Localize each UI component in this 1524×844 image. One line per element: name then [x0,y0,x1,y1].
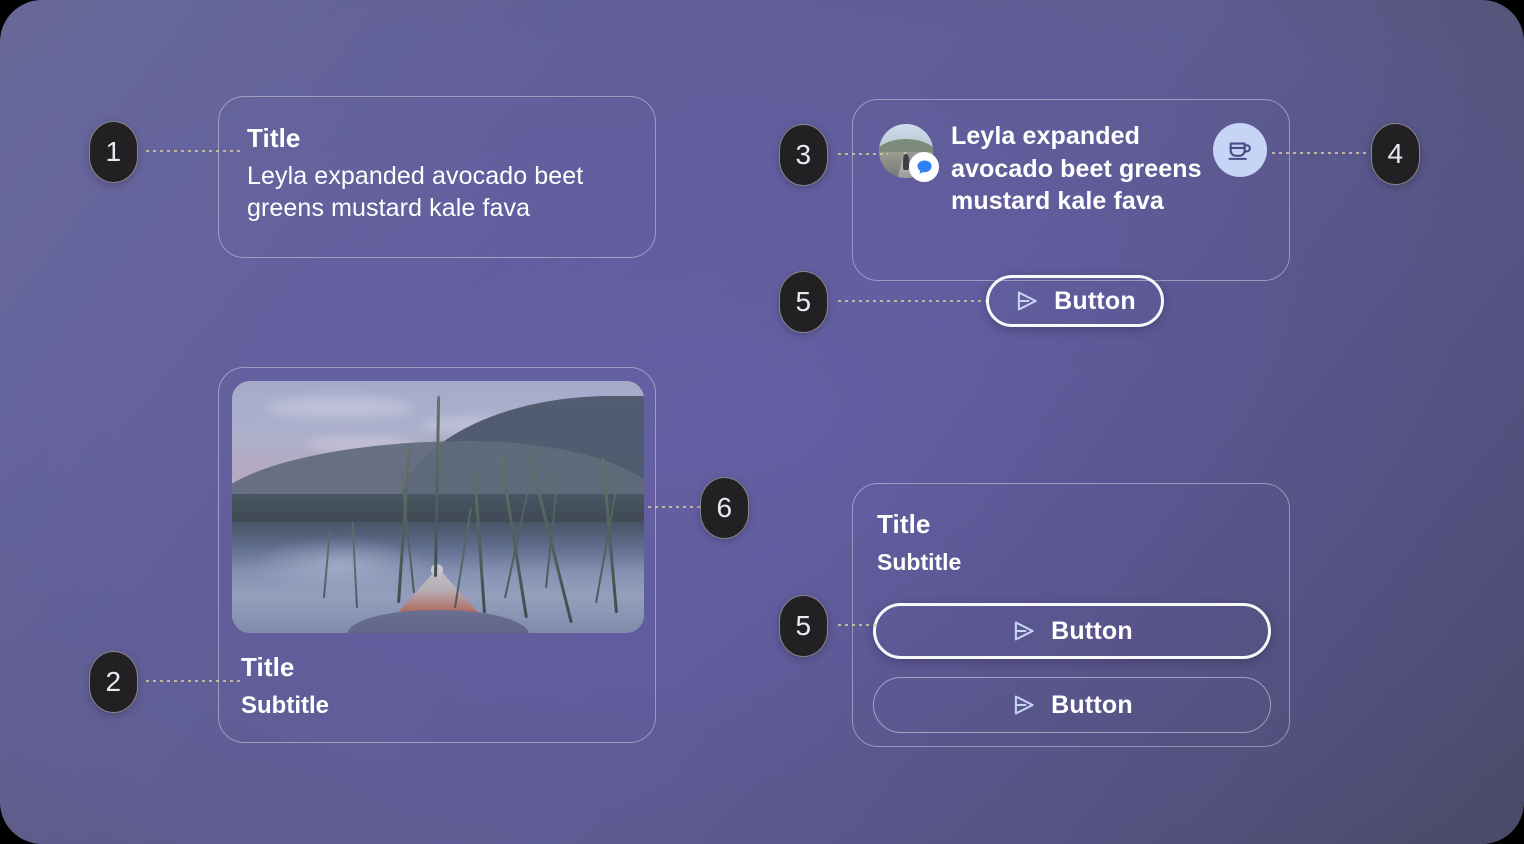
image-card-media[interactable] [232,381,644,633]
button-label: Button [1051,617,1133,646]
list-card[interactable]: Title Subtitle Button Button [852,483,1290,747]
send-button-secondary[interactable]: Button [873,677,1271,733]
send-button-primary[interactable]: Button [873,603,1271,659]
card-title: Title [247,123,627,154]
annotation-badge-1: 1 [89,121,138,183]
annotation-badge-2: 2 [89,651,138,713]
connector-3 [838,153,888,155]
avatar-card[interactable]: Leyla expanded avocado beet greens musta… [852,99,1290,281]
connector-2 [146,680,242,682]
connector-5-list [838,624,878,626]
annotation-badge-5-list: 5 [779,595,828,657]
card-subtitle: Subtitle [877,548,961,577]
photo-purple-tint [232,381,644,633]
send-triangle-icon [1011,618,1037,644]
button-label: Button [1054,287,1136,316]
annotation-badge-6: 6 [700,477,749,539]
coffee-cup-icon[interactable] [1213,123,1267,177]
annotation-badge-3: 3 [779,124,828,186]
chat-bubble-icon [909,152,939,182]
send-triangle-icon [1014,288,1040,314]
annotated-ui-canvas: 1 2 3 4 5 5 6 Title Leyla expanded avoca… [0,0,1524,844]
card-title: Title [241,652,329,683]
lake-kayak-photo [232,381,644,633]
connector-6 [648,506,706,508]
annotation-badge-5-top: 5 [779,271,828,333]
connector-4 [1272,152,1370,154]
avatar[interactable] [879,124,933,178]
card-body-text: Leyla expanded avocado beet greens musta… [247,160,627,225]
button-label: Button [1051,691,1133,720]
connector-1 [146,150,240,152]
card-body-text: Leyla expanded avocado beet greens musta… [951,120,1221,218]
connector-5-top [838,300,990,302]
send-triangle-icon [1011,692,1037,718]
text-card[interactable]: Title Leyla expanded avocado beet greens… [218,96,656,258]
avatar-card-text: Leyla expanded avocado beet greens musta… [951,120,1221,218]
card-title: Title [877,509,961,540]
image-card-caption: Title Subtitle [241,652,329,721]
card-subtitle: Subtitle [241,691,329,721]
send-button-top[interactable]: Button [986,275,1164,327]
image-card[interactable]: Title Subtitle [218,367,656,743]
annotation-badge-4: 4 [1371,123,1420,185]
avatar-card-content: Leyla expanded avocado beet greens musta… [879,120,1221,218]
list-card-header: Title Subtitle [877,509,961,576]
